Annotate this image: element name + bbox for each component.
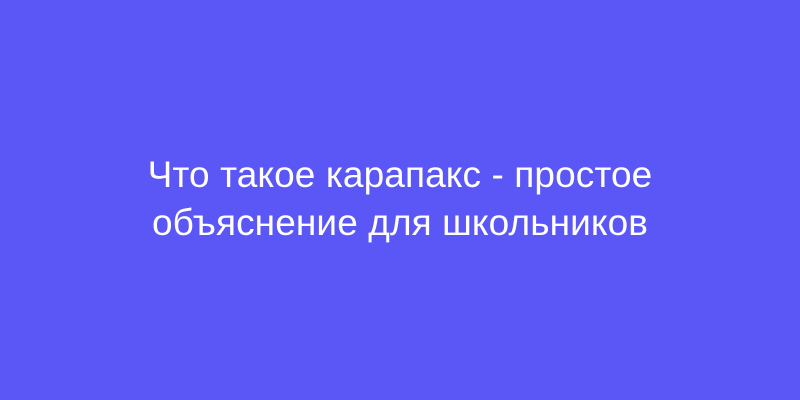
title-line-1: Что такое карапакс - простое [50,151,750,199]
page-title: Что такое карапакс - простое объяснение … [50,151,750,247]
title-line-2: объяснение для школьников [50,199,750,247]
title-card: Что такое карапакс - простое объяснение … [0,0,800,400]
